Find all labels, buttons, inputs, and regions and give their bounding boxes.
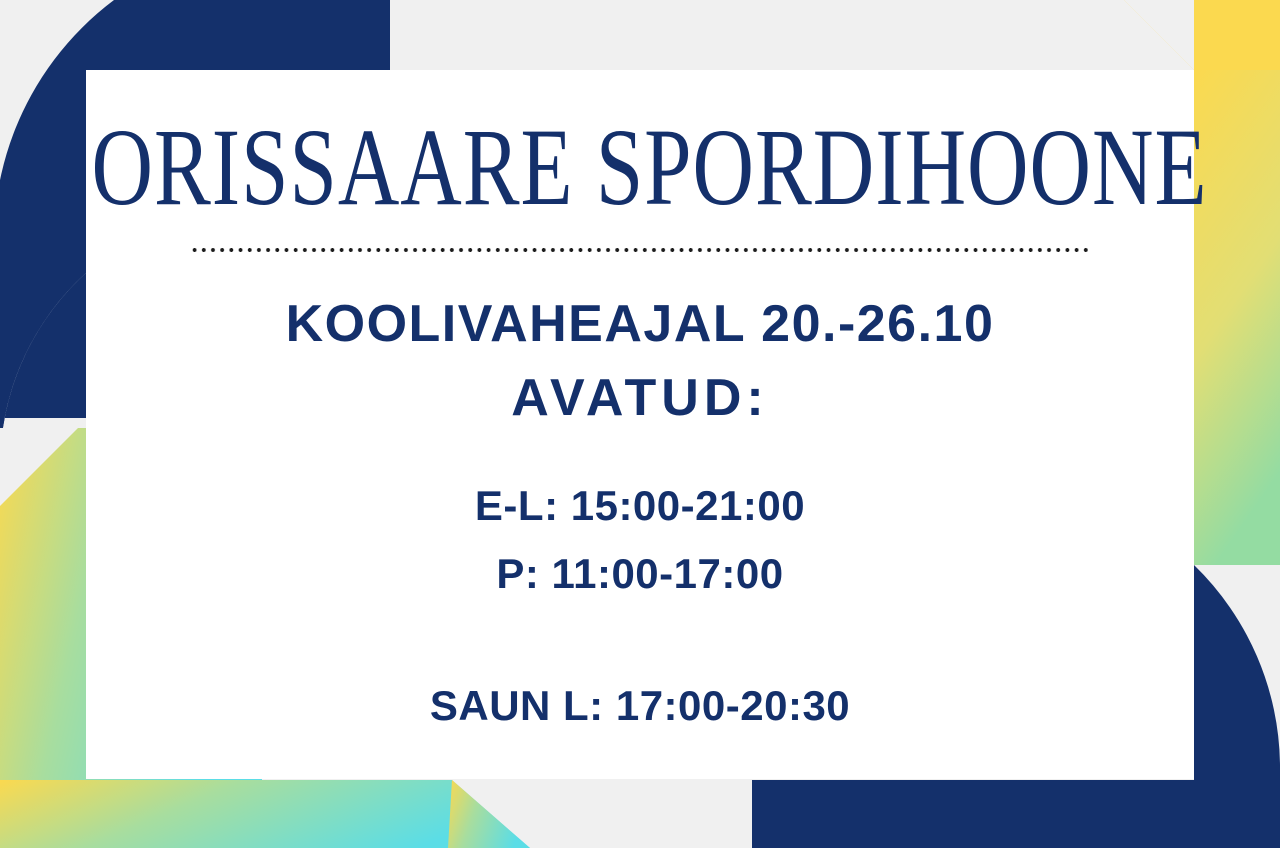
sauna-hours: SAUN L: 17:00-20:30 [430, 682, 850, 730]
content-card: ORISSAARE SPORDIHOONE KOOLIVAHEAJAL 20.-… [86, 70, 1194, 779]
hours-row-weekdays: E-L: 15:00-21:00 [475, 472, 805, 540]
page-title: ORISSAARE SPORDIHOONE [92, 112, 1189, 222]
opening-hours-list: E-L: 15:00-21:00 P: 11:00-17:00 [475, 472, 805, 608]
headline-block: KOOLIVAHEAJAL 20.-26.10 AVATUD: [286, 288, 995, 436]
headline-line-2: AVATUD: [286, 362, 995, 436]
headline-line-1: KOOLIVAHEAJAL 20.-26.10 [286, 288, 995, 362]
bottom-navy-band [752, 780, 1280, 848]
poster-canvas: ORISSAARE SPORDIHOONE KOOLIVAHEAJAL 20.-… [0, 0, 1280, 848]
hours-row-sunday: P: 11:00-17:00 [475, 540, 805, 608]
dotted-divider [190, 248, 1090, 252]
